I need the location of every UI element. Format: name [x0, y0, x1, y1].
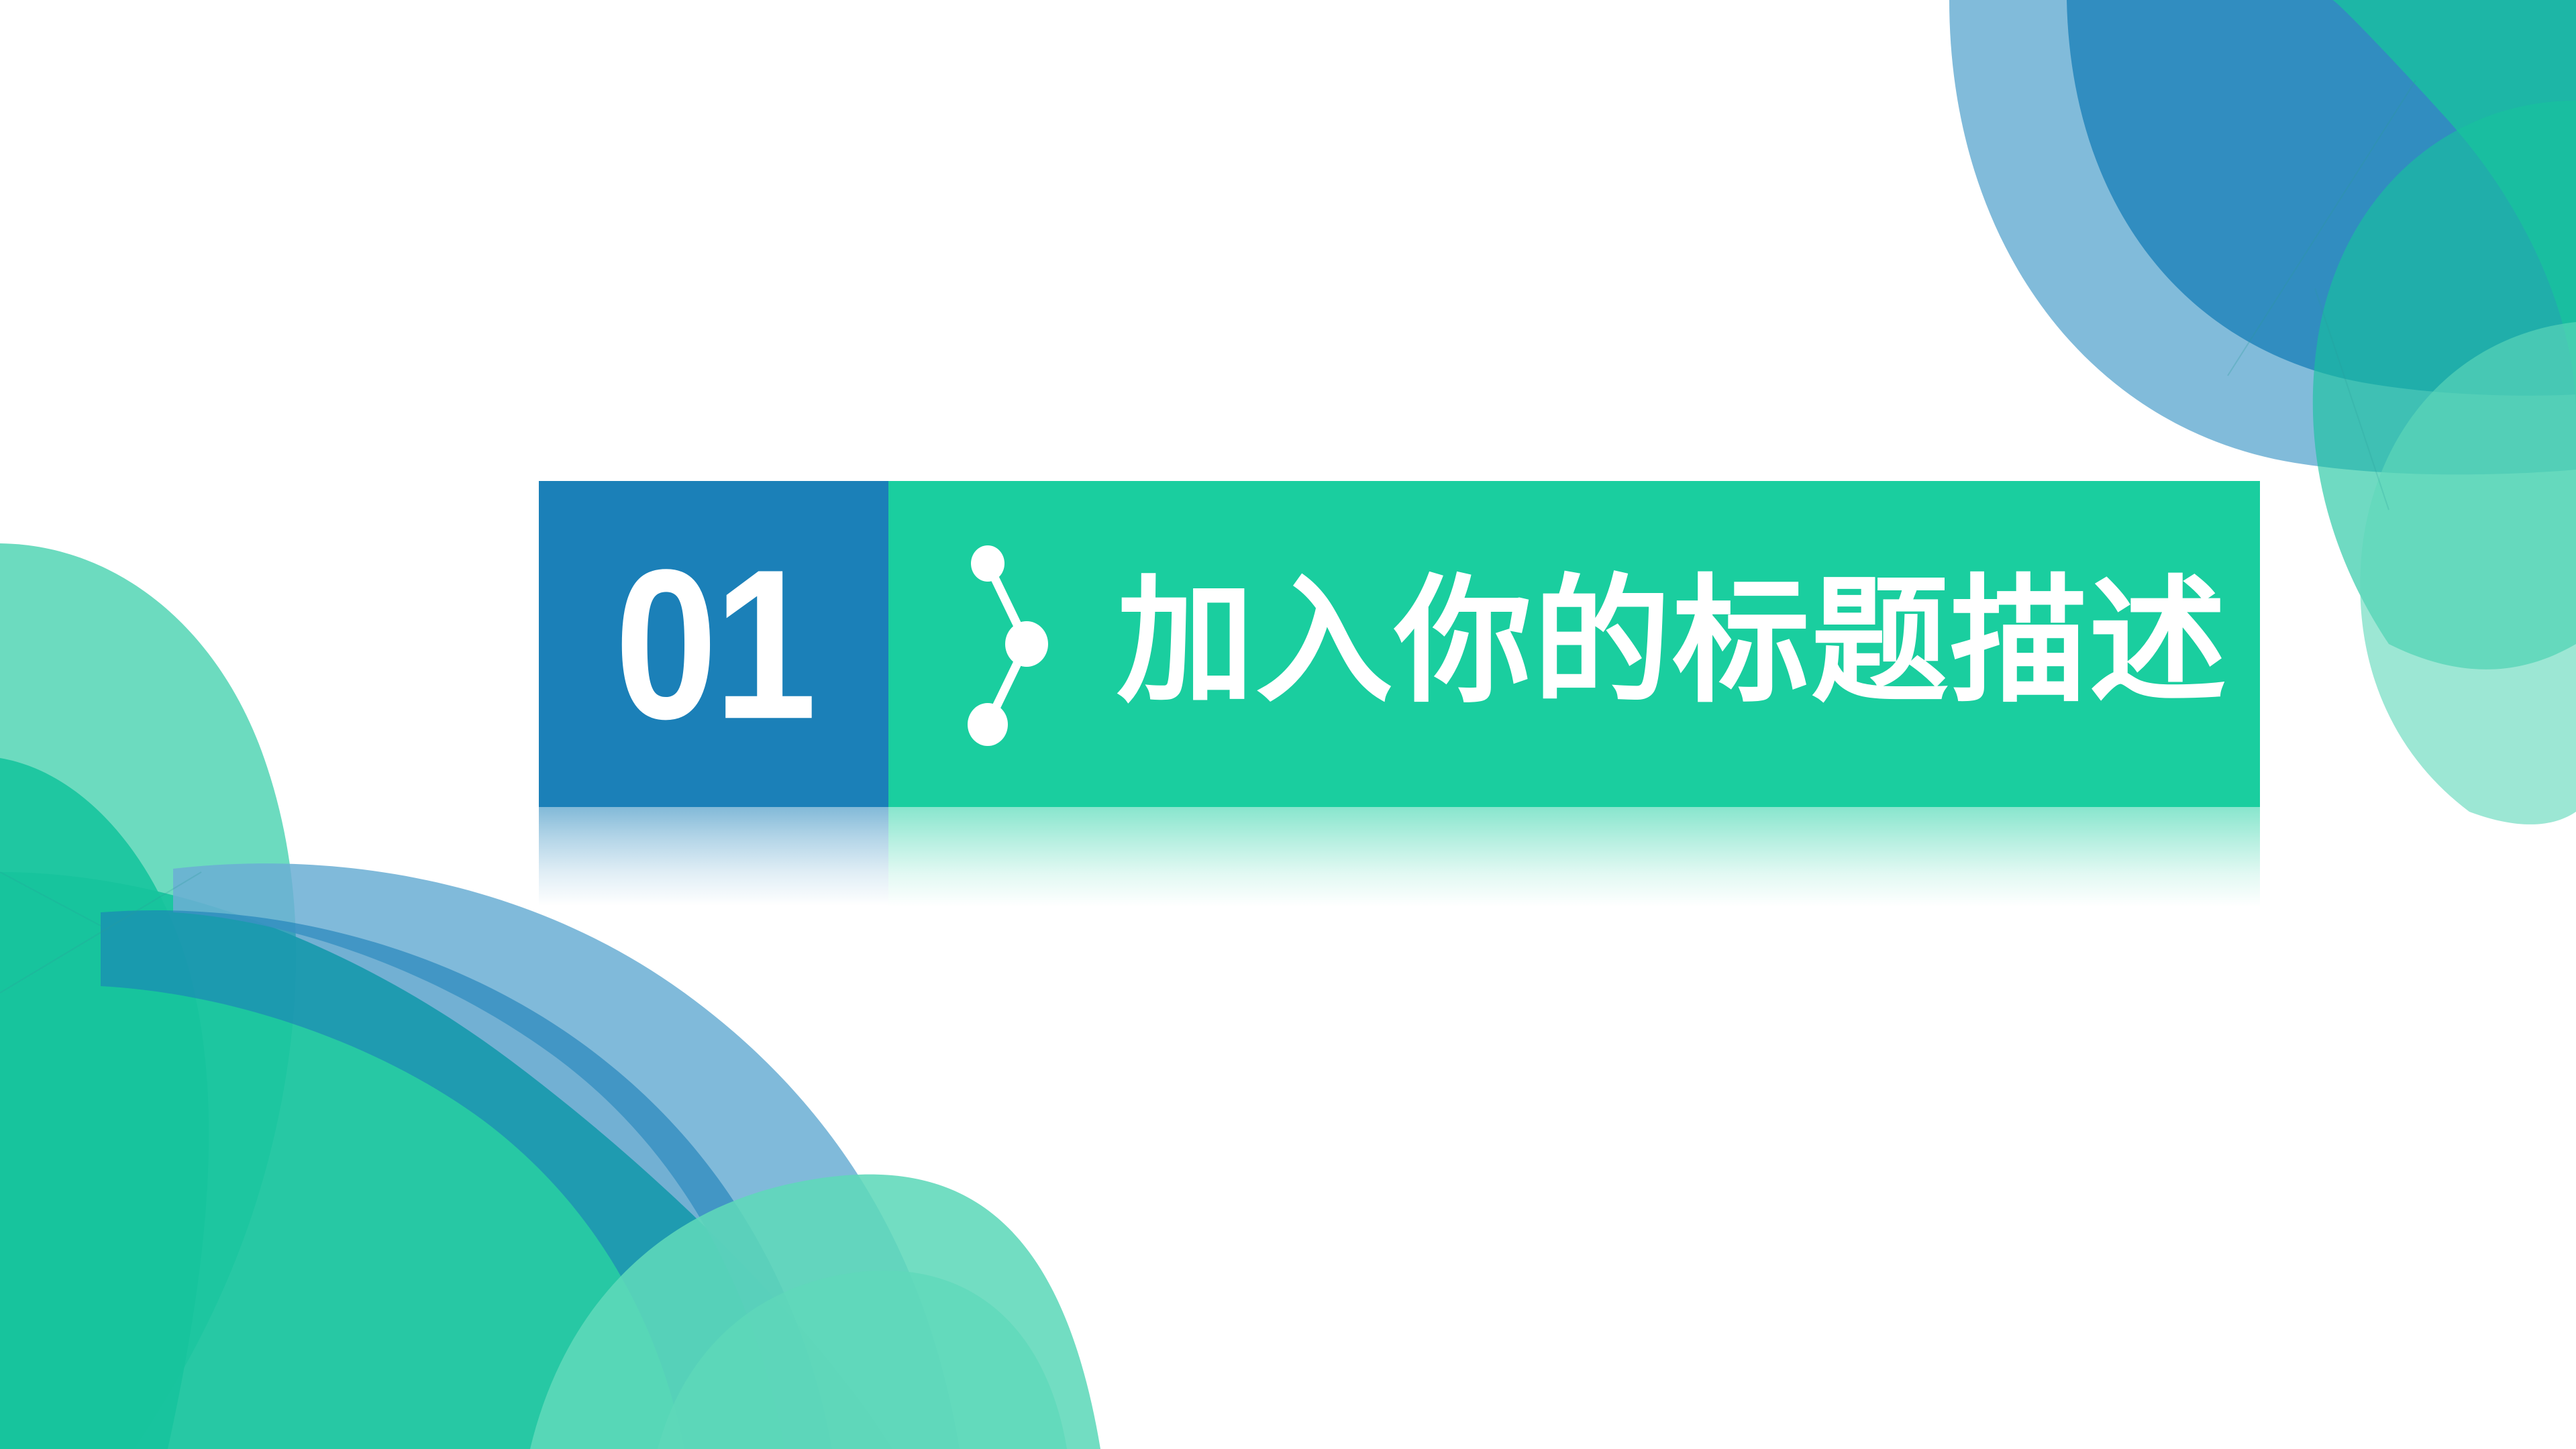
section-banner[interactable]: 01 加入你的标题描述: [539, 481, 2260, 807]
bottom-left-green-body-shape: [0, 872, 892, 1449]
section-title: 加入你的标题描述: [1117, 573, 2228, 710]
section-title-box: 加入你的标题描述: [888, 481, 2260, 807]
top-right-seam-line-2: [2315, 288, 2389, 510]
bottom-left-green-leaf-shape: [0, 758, 209, 1449]
bottom-left-seam-line-2: [0, 872, 101, 926]
banner-reflection: [539, 807, 2260, 911]
bottom-left-green-pale-mound-shape: [0, 543, 296, 1449]
slide-canvas: 01 加入你的标题描述: [0, 0, 2576, 1449]
chevron-dots-icon: [964, 537, 1051, 751]
top-right-green-large-shape: [2313, 101, 2576, 669]
bottom-left-blue-leaf-dark-shape: [101, 910, 832, 1449]
top-right-green-petal-pale-shape: [2360, 322, 2576, 824]
top-right-seam-line: [2228, 80, 2416, 376]
top-right-green-petal-shape: [2332, 0, 2576, 416]
top-right-blue-petal-light-shape: [1949, 0, 2576, 474]
top-right-blue-petal-dark-shape: [2067, 0, 2576, 396]
bottom-center-green-wave-2-shape: [658, 1271, 1067, 1449]
bottom-left-blue-leaf-light-shape: [173, 863, 960, 1449]
section-number-box: 01: [539, 481, 888, 807]
section-number: 01: [615, 537, 813, 751]
banner-reflection-green: [888, 807, 2260, 911]
bottom-center-green-wave-shape: [530, 1175, 1100, 1449]
bottom-left-seam-line: [0, 872, 201, 993]
banner-reflection-blue: [539, 807, 888, 911]
